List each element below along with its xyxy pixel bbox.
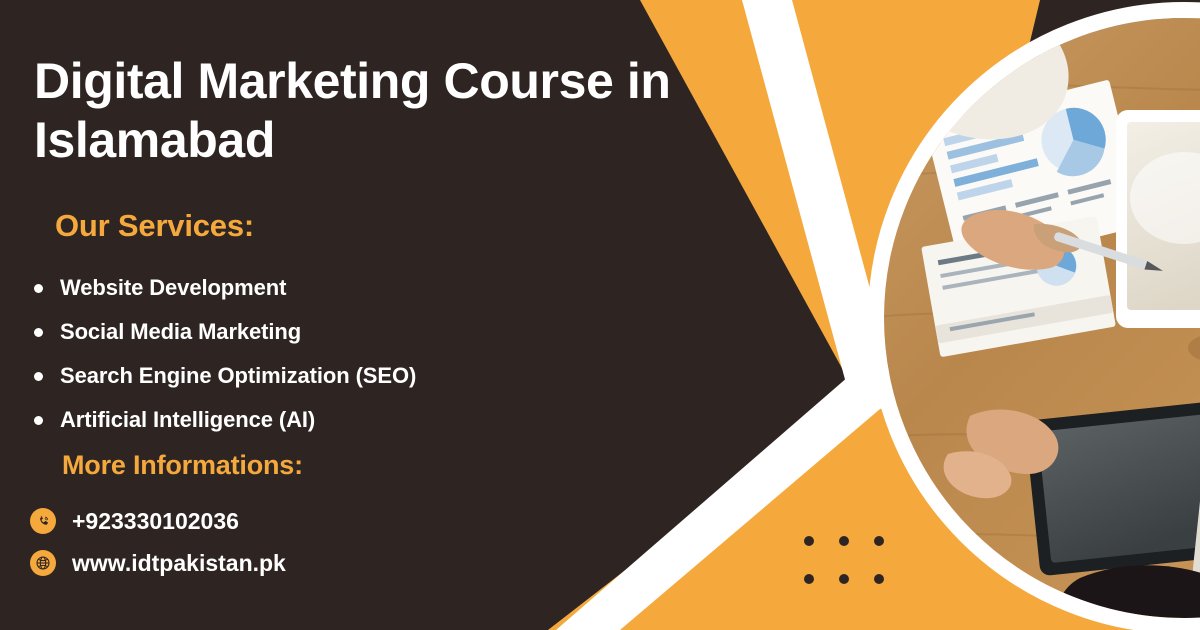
service-item: Search Engine Optimization (SEO) <box>34 354 416 398</box>
banner-title: Digital Marketing Course in Islamabad <box>34 52 694 170</box>
dot-grid-decoration <box>804 536 909 612</box>
dot <box>804 536 814 546</box>
dot <box>874 574 884 584</box>
service-label: Artificial Intelligence (AI) <box>60 407 315 433</box>
service-label: Search Engine Optimization (SEO) <box>60 363 416 389</box>
contact-website[interactable]: www.idtpakistan.pk <box>30 542 286 584</box>
marketing-banner: Digital Marketing Course in Islamabad Ou… <box>0 0 1200 630</box>
bullet-icon <box>34 372 43 381</box>
phone-number: +923330102036 <box>72 508 239 535</box>
website-url: www.idtpakistan.pk <box>72 550 286 577</box>
globe-icon <box>30 550 56 576</box>
services-heading: Our Services: <box>55 208 254 244</box>
contact-phone[interactable]: +923330102036 <box>30 500 286 542</box>
service-item: Artificial Intelligence (AI) <box>34 398 416 442</box>
more-information-heading: More Informations: <box>62 450 303 481</box>
dot <box>839 574 849 584</box>
dot <box>874 536 884 546</box>
service-label: Social Media Marketing <box>60 319 301 345</box>
phone-icon <box>30 508 56 534</box>
bullet-icon <box>34 284 43 293</box>
contact-list: +923330102036 www.idtpakistan.pk <box>30 500 286 584</box>
service-item: Social Media Marketing <box>34 310 416 354</box>
content-column: Digital Marketing Course in Islamabad Ou… <box>0 0 700 630</box>
dot <box>804 574 814 584</box>
service-label: Website Development <box>60 275 286 301</box>
service-item: Website Development <box>34 266 416 310</box>
bullet-icon <box>34 416 43 425</box>
services-list: Website Development Social Media Marketi… <box>34 266 416 442</box>
bullet-icon <box>34 328 43 337</box>
dot <box>839 536 849 546</box>
